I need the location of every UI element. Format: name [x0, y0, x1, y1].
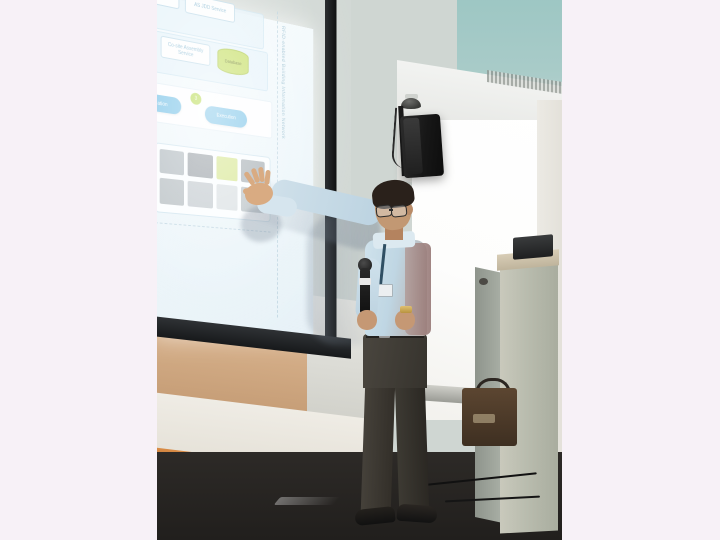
image-canvas: ion ce AS JDD Service Co-site Assembly S…: [0, 0, 720, 540]
eyeglasses-bridge: [389, 209, 393, 211]
wristwatch: [400, 306, 412, 313]
microphone-body: [360, 268, 370, 314]
presenter-hand-on-mic: [357, 310, 377, 330]
presenter-leg-left: [361, 378, 396, 517]
presenter-trousers: [363, 334, 427, 388]
presenter: [157, 0, 562, 540]
name-badge: [377, 284, 393, 297]
presenter-shoe-right: [396, 504, 437, 524]
photograph: ion ce AS JDD Service Co-site Assembly S…: [157, 0, 562, 540]
presenter-hand-right: [395, 310, 415, 330]
presenter-shoe-left: [354, 506, 395, 526]
microphone-logo-band: [359, 278, 371, 285]
eyeglasses-lens-right: [390, 204, 407, 218]
presenter-leg-right: [395, 378, 430, 515]
